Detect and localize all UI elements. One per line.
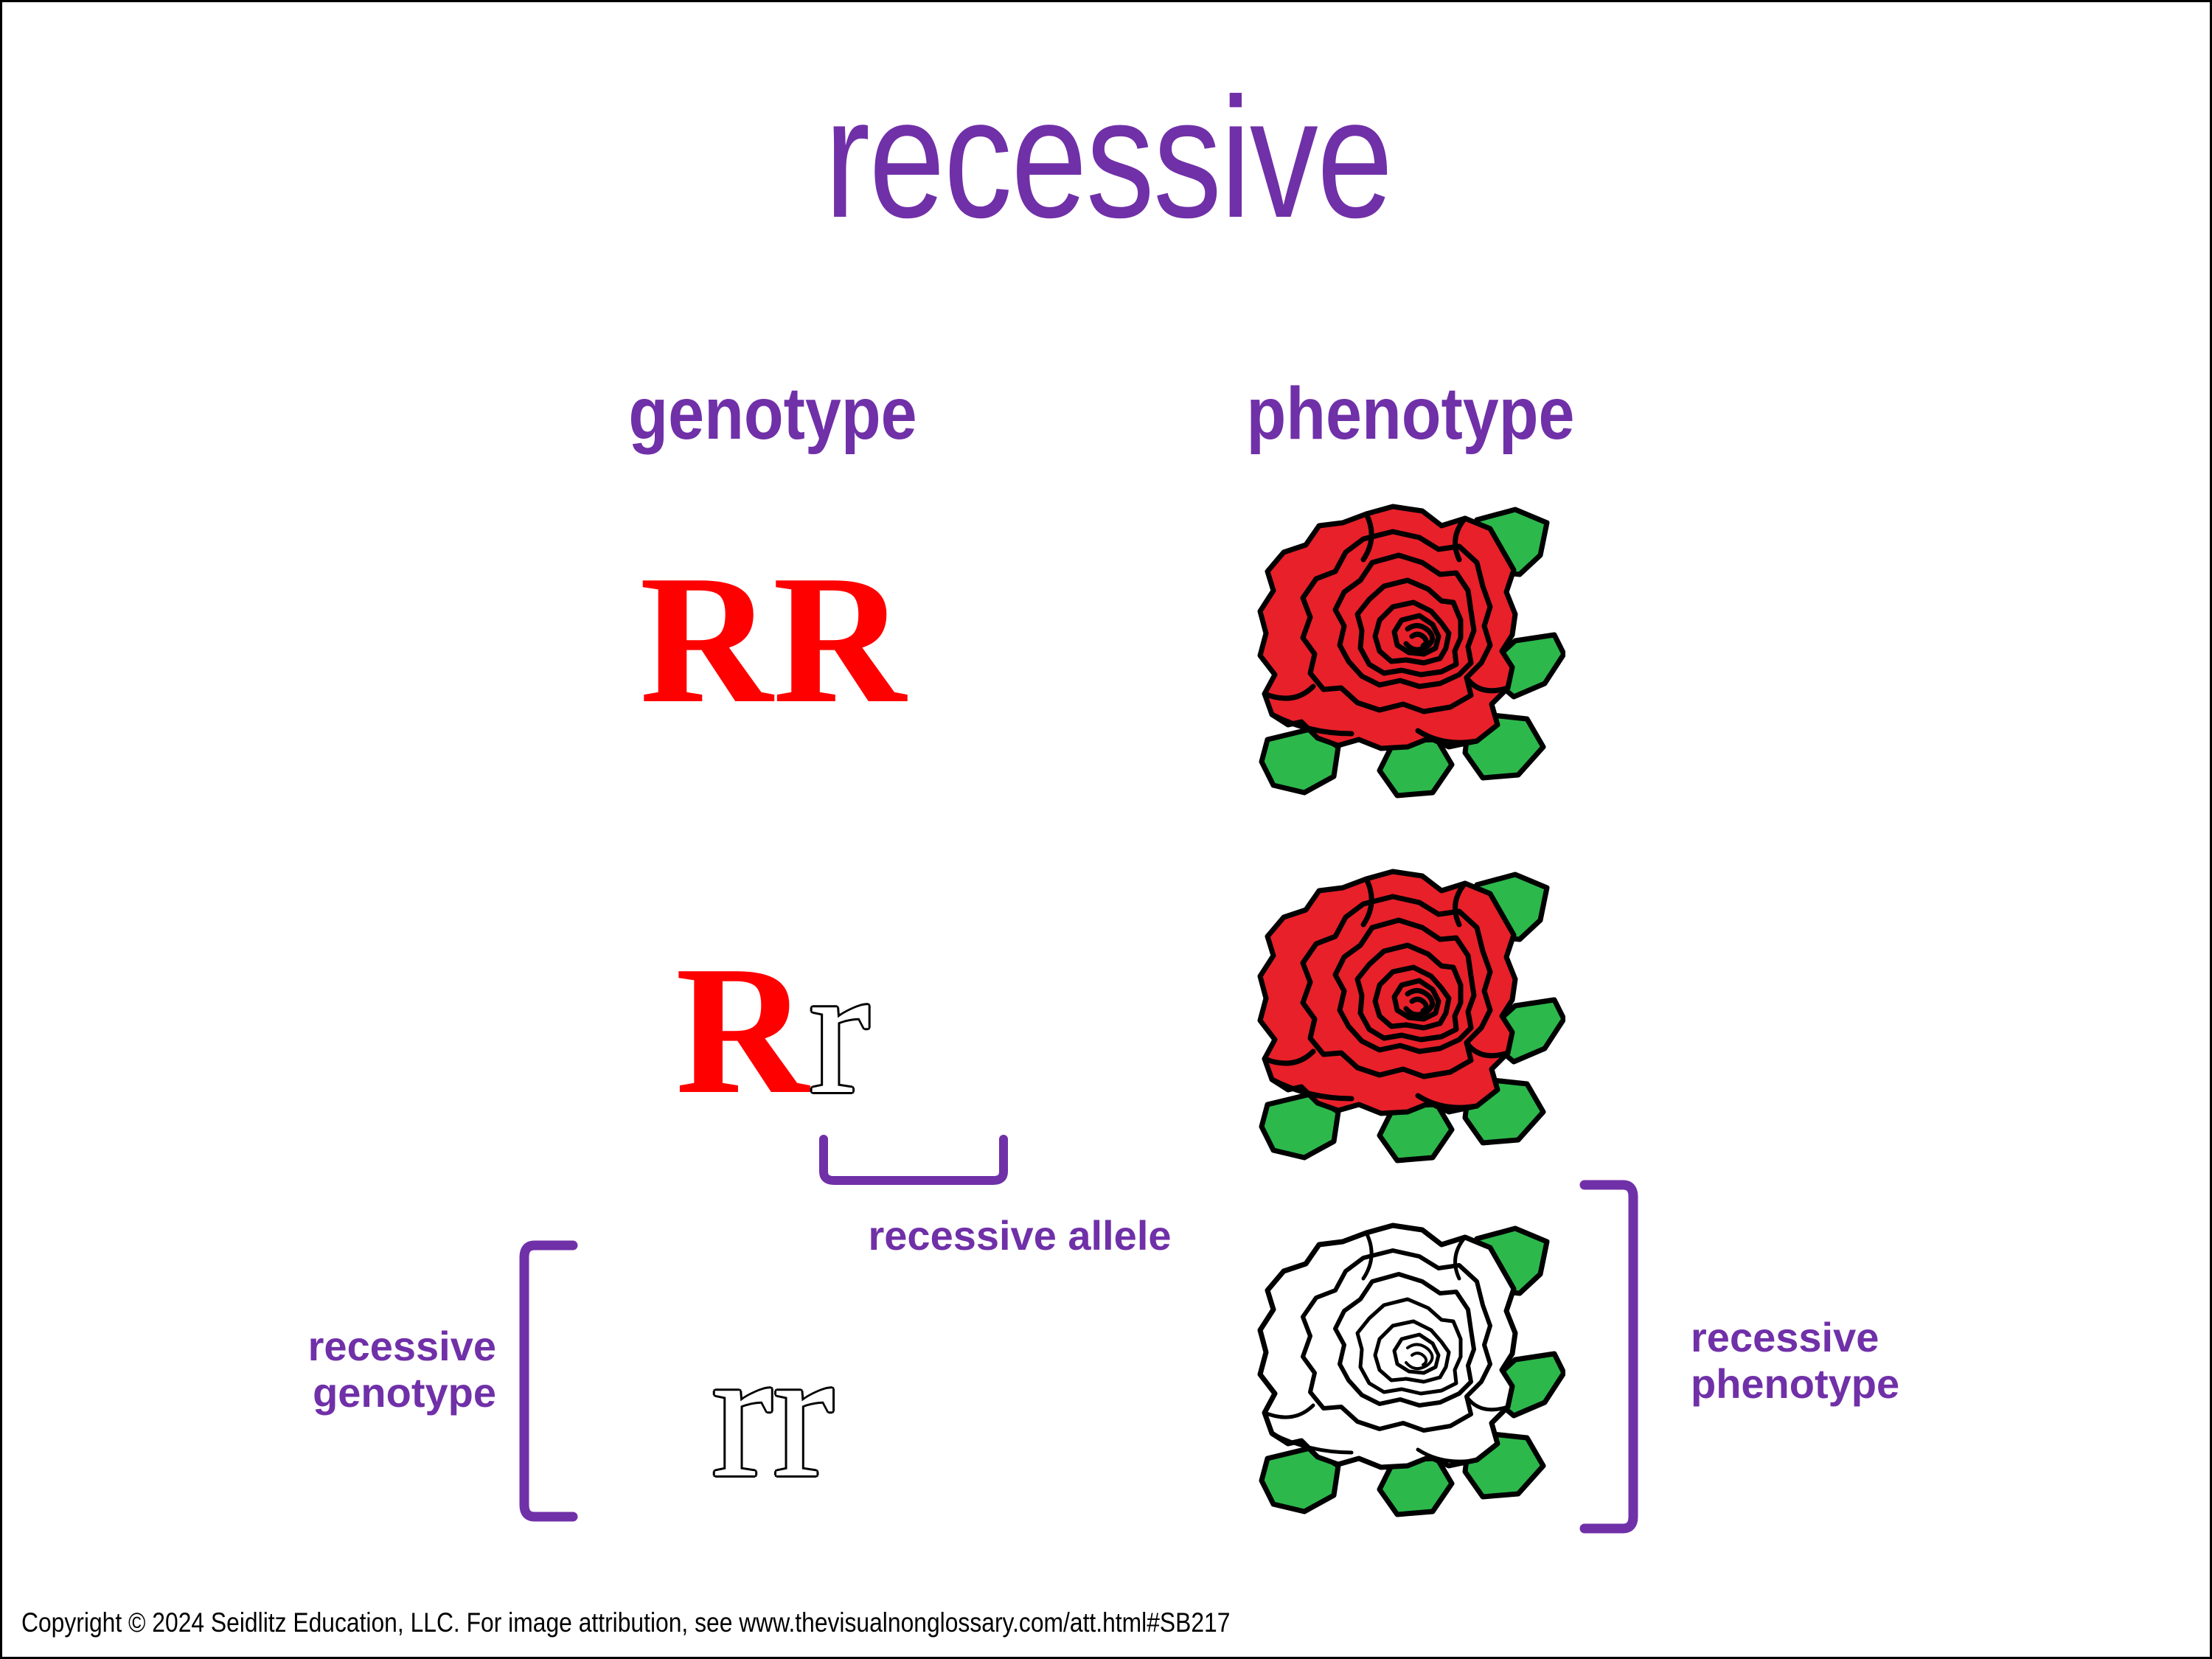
recessive-phenotype-bracket	[1580, 1180, 1639, 1533]
label-recessive-genotype-line2: genotype	[179, 1370, 496, 1416]
allele-dominant-1: R	[639, 538, 773, 742]
red-rose-icon	[1256, 504, 1565, 813]
copyright-notice: Copyright © 2024 Seidlitz Education, LLC…	[21, 1609, 1230, 1636]
label-recessive-genotype-line1: recessive	[179, 1324, 496, 1370]
poster-page: recessive genotype phenotype RR Rr rr	[0, 0, 2212, 1659]
label-recessive-allele: recessive allele	[813, 1213, 1226, 1259]
red-rose-icon	[1256, 869, 1565, 1178]
label-recessive-genotype: recessive genotype	[179, 1324, 496, 1416]
genotype-row-homozygous-recessive: rr	[544, 1322, 1001, 1506]
page-title: recessive	[223, 73, 1993, 244]
column-header-genotype: genotype	[571, 377, 974, 451]
genotype-row-heterozygous: Rr	[544, 939, 1001, 1123]
recessive-allele-bracket	[819, 1139, 1008, 1185]
genotype-row-homozygous-dominant: RR	[544, 548, 1001, 732]
recessive-genotype-bracket	[518, 1241, 577, 1521]
label-recessive-phenotype-line1: recessive	[1691, 1315, 2008, 1361]
label-recessive-phenotype: recessive phenotype	[1691, 1315, 2008, 1407]
white-rose-icon	[1256, 1222, 1565, 1532]
allele-dominant-2: R	[773, 538, 906, 742]
allele-recessive-1: r	[809, 928, 870, 1133]
allele-recessive-1: r	[712, 1312, 773, 1516]
label-recessive-allele-text: recessive allele	[868, 1212, 1171, 1259]
column-header-phenotype: phenotype	[1183, 377, 1638, 451]
allele-dominant-1: R	[675, 928, 809, 1133]
allele-recessive-2: r	[773, 1312, 834, 1516]
label-recessive-phenotype-line2: phenotype	[1691, 1361, 2008, 1408]
